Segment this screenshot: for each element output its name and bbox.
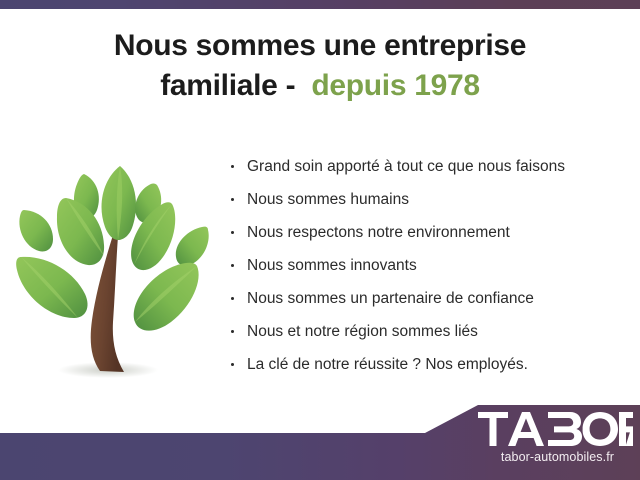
bullet-dot-icon <box>231 198 234 201</box>
logo-domain-text: tabor-automobiles.fr <box>480 450 635 464</box>
page-title-line-2-plain: familiale - <box>160 69 311 102</box>
list-item: Nous et notre région sommes liés <box>228 315 628 348</box>
list-item: Nous respectons notre environnement <box>228 216 628 249</box>
list-item-label: La clé de notre réussite ? Nos employés. <box>247 356 528 373</box>
bullet-dot-icon <box>231 231 234 234</box>
brand-logo[interactable]: tabor-automobiles.fr <box>478 410 640 472</box>
page-title-line-1: Nous sommes une entreprise <box>0 26 640 66</box>
list-item: Nous sommes innovants <box>228 249 628 282</box>
tree-illustration <box>12 152 217 398</box>
bullet-dot-icon <box>231 264 234 267</box>
list-item-label: Nous et notre région sommes liés <box>247 323 478 340</box>
page-title-accent: depuis 1978 <box>311 69 479 102</box>
top-accent-bar <box>0 0 640 9</box>
list-item: Nous sommes humains <box>228 183 628 216</box>
page-title-line-2: familiale - depuis 1978 <box>0 66 640 106</box>
bullet-dot-icon <box>231 165 234 168</box>
list-item: La clé de notre réussite ? Nos employés. <box>228 348 628 381</box>
list-item-label: Nous sommes humains <box>247 191 409 208</box>
bullet-dot-icon <box>231 330 234 333</box>
bullet-dot-icon <box>231 363 234 366</box>
list-item-label: Nous respectons notre environnement <box>247 224 510 241</box>
page-title: Nous sommes une entreprise familiale - d… <box>0 26 640 106</box>
list-item-label: Nous sommes innovants <box>247 257 417 274</box>
benefits-list: Grand soin apporté à tout ce que nous fa… <box>228 150 628 381</box>
list-item: Grand soin apporté à tout ce que nous fa… <box>228 150 628 183</box>
list-item-label: Grand soin apporté à tout ce que nous fa… <box>247 158 565 175</box>
bullet-dot-icon <box>231 297 234 300</box>
tabor-wordmark-icon <box>478 412 633 446</box>
slide-canvas: Nous sommes une entreprise familiale - d… <box>0 0 640 480</box>
list-item-label: Nous sommes un partenaire de confiance <box>247 290 534 307</box>
list-item: Nous sommes un partenaire de confiance <box>228 282 628 315</box>
